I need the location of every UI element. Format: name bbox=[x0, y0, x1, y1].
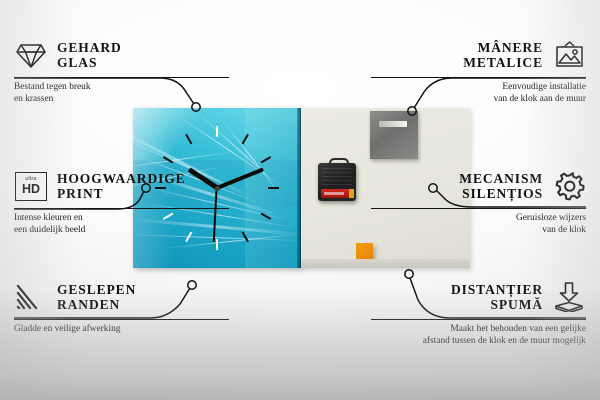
battery-label bbox=[324, 192, 344, 195]
feature-head: GEHARD GLAS bbox=[14, 36, 229, 74]
feature-desc-line2: een duidelijk beeld bbox=[14, 225, 85, 235]
ultra-hd-icon: ultra HD bbox=[14, 169, 48, 203]
mechanism-grill bbox=[322, 168, 352, 185]
feature-hoogwaardige-print: ultra HD HOOGWAARDIGE PRINT Intense kleu… bbox=[14, 167, 229, 237]
feature-title: GESLEPEN RANDEN bbox=[57, 282, 136, 312]
gear-icon bbox=[552, 169, 586, 203]
wall-base-shadow bbox=[301, 259, 470, 268]
feature-desc-line2: van de klok bbox=[542, 225, 586, 235]
hd-ultra-label: ultra bbox=[25, 177, 36, 182]
feature-title-line1: MECANISM bbox=[459, 171, 543, 186]
feature-title-line1: MÂNERE bbox=[478, 40, 543, 55]
feature-desc-line1: Eenvoudige installatie bbox=[502, 82, 586, 92]
orange-foam-spacer bbox=[356, 243, 373, 259]
feature-divider bbox=[14, 208, 229, 209]
feature-title-line2: SILENȚIOS bbox=[462, 186, 543, 201]
feature-title-line1: GEHARD bbox=[57, 40, 122, 55]
feature-title-line2: METALICE bbox=[463, 55, 543, 70]
feature-desc-line1: Bestand tegen breuk bbox=[14, 82, 91, 92]
feature-desc-line2: afstand tussen de klok en de muur mogeli… bbox=[423, 336, 586, 346]
feature-head: ultra HD HOOGWAARDIGE PRINT bbox=[14, 167, 229, 205]
picture-frame-icon bbox=[552, 38, 586, 72]
feature-description: Eenvoudige installatie van de klok aan d… bbox=[371, 82, 586, 105]
hd-main-label: HD bbox=[22, 183, 40, 196]
feature-divider bbox=[371, 77, 586, 78]
leader-dot-distantier-spuma bbox=[405, 270, 413, 278]
feature-geslepen-randen: GESLEPEN RANDEN Gladde en veilige afwerk… bbox=[14, 278, 229, 336]
feature-divider bbox=[371, 208, 586, 209]
spacer-arrow-icon bbox=[552, 280, 586, 314]
feature-title: HOOGWAARDIGE PRINT bbox=[57, 171, 186, 201]
feature-head: DISTANȚIER SPUMĂ bbox=[371, 278, 586, 316]
feature-gehard-glas: GEHARD GLAS Bestand tegen breuk en krass… bbox=[14, 36, 229, 106]
feature-title: MECANISM SILENȚIOS bbox=[459, 171, 543, 201]
feature-title-line1: DISTANȚIER bbox=[451, 282, 543, 297]
aa-battery bbox=[321, 189, 353, 198]
feature-description: Intense kleuren en een duidelijk beeld bbox=[14, 213, 229, 236]
hd-badge: ultra HD bbox=[15, 172, 47, 201]
feature-manere-metalice: MÂNERE METALICE Eenvoudige installatie v… bbox=[371, 36, 586, 106]
feature-head: MÂNERE METALICE bbox=[371, 36, 586, 74]
feature-title-line2: GLAS bbox=[57, 55, 97, 70]
clock-mechanism-box bbox=[318, 163, 356, 201]
feature-head: GESLEPEN RANDEN bbox=[14, 278, 229, 316]
feature-desc-line1: Intense kleuren en bbox=[14, 213, 83, 223]
battery-terminal bbox=[349, 189, 354, 198]
feature-divider bbox=[14, 319, 229, 320]
feature-desc-line2: en krassen bbox=[14, 94, 53, 104]
feature-title-line2: PRINT bbox=[57, 186, 104, 201]
feature-title-line2: SPUMĂ bbox=[491, 297, 544, 312]
feature-desc-line1: Geruisloze wijzers bbox=[516, 213, 586, 223]
feature-desc-line2: van de klok aan de muur bbox=[494, 94, 586, 104]
feature-title-line1: GESLEPEN bbox=[57, 282, 136, 297]
feature-desc-line1: Maakt het behouden van een gelijke bbox=[450, 324, 586, 334]
feature-title: DISTANȚIER SPUMĂ bbox=[451, 282, 543, 312]
mechanism-hanger-loop bbox=[329, 158, 349, 168]
product-infographic: GEHARD GLAS Bestand tegen breuk en krass… bbox=[0, 0, 600, 400]
feature-title: GEHARD GLAS bbox=[57, 40, 122, 70]
metal-hanger-plate bbox=[370, 111, 418, 159]
feature-divider bbox=[14, 77, 229, 78]
feature-title: MÂNERE METALICE bbox=[463, 40, 543, 70]
feature-title-line1: HOOGWAARDIGE bbox=[57, 171, 186, 186]
feature-description: Geruisloze wijzers van de klok bbox=[371, 213, 586, 236]
feature-head: MECANISM SILENȚIOS bbox=[371, 167, 586, 205]
feature-divider bbox=[371, 319, 586, 320]
feature-description: Bestand tegen breuk en krassen bbox=[14, 82, 229, 105]
hanger-slot bbox=[379, 121, 407, 127]
feature-desc-line1: Gladde en veilige afwerking bbox=[14, 324, 120, 334]
feature-description: Maakt het behouden van een gelijke afsta… bbox=[371, 324, 586, 347]
feature-title-line2: RANDEN bbox=[57, 297, 120, 312]
beveled-edges-icon bbox=[14, 280, 48, 314]
feature-distantier-spuma: DISTANȚIER SPUMĂ Maakt het behouden van … bbox=[371, 278, 586, 348]
diamond-icon bbox=[14, 38, 48, 72]
feature-description: Gladde en veilige afwerking bbox=[14, 324, 229, 336]
feature-mecanism-silentios: MECANISM SILENȚIOS Geruisloze wijzers va… bbox=[371, 167, 586, 237]
